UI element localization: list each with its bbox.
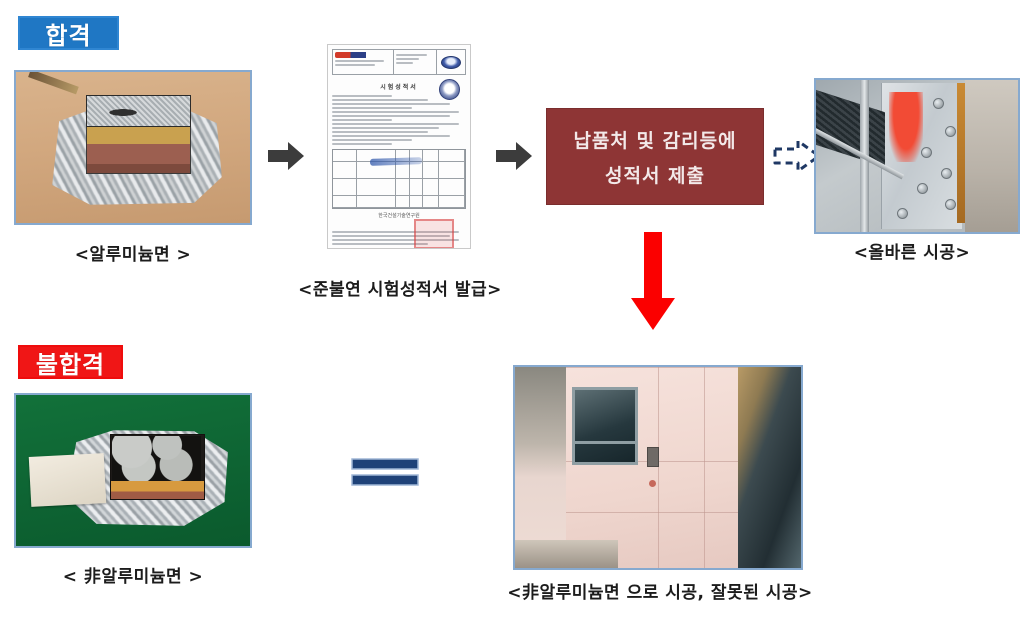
photo-correct-installation bbox=[814, 78, 1020, 234]
caption-non-aluminum-specimen: < 非알루미늄면 > bbox=[10, 562, 256, 587]
photo-correct-installation-image bbox=[816, 80, 1018, 232]
kict-logo-icon bbox=[335, 52, 391, 58]
red-marking bbox=[889, 92, 923, 162]
submit-report-line-2: 성적서 제출 bbox=[605, 161, 705, 188]
test-certificate-document: 시험성적서 한국건설기술연구원 bbox=[327, 44, 471, 249]
certificate-body-lines bbox=[332, 95, 466, 145]
window-opening bbox=[572, 387, 638, 465]
certificate-oval-seal bbox=[437, 50, 465, 74]
scaffold-deck bbox=[816, 90, 885, 167]
right-arrow-icon bbox=[266, 139, 306, 173]
wall-marking-dot bbox=[649, 480, 656, 487]
caption-correct-installation: <올바른 시공> bbox=[800, 238, 1024, 263]
submit-report-line-1: 납품처 및 감리등에 bbox=[573, 126, 736, 153]
panel-edge-trim bbox=[957, 83, 965, 223]
wall-outlet-box bbox=[647, 447, 659, 467]
photo-aluminum-specimen bbox=[14, 70, 252, 225]
side-wall bbox=[515, 367, 569, 568]
caption-aluminum-specimen: <알루미늄면 > bbox=[14, 240, 252, 265]
certificate-red-stamp bbox=[414, 219, 454, 249]
certificate-issuer-name: 한국건설기술연구원 bbox=[332, 212, 466, 219]
fail-badge: 불합격 bbox=[18, 345, 123, 379]
photo-wrong-installation bbox=[513, 365, 803, 570]
specimen-charred-surface bbox=[112, 436, 201, 481]
caption-test-certificate: <준불연 시험성적서 발급> bbox=[280, 275, 520, 300]
caption-wrong-installation: <非알루미늄면 으로 시공, 잘못된 시공> bbox=[460, 578, 860, 603]
concrete-slab bbox=[965, 80, 1018, 232]
non-aluminum-facing-sheet bbox=[29, 453, 106, 507]
construction-floor bbox=[515, 540, 618, 568]
photo-non-aluminum-specimen-image bbox=[16, 395, 250, 546]
certificate-header-table bbox=[332, 49, 466, 75]
down-arrow-icon bbox=[630, 232, 676, 332]
photo-wrong-installation-image bbox=[515, 367, 801, 568]
pass-badge: 합격 bbox=[18, 16, 119, 50]
certificate-number-cell bbox=[394, 50, 438, 74]
flowchart-canvas: 합격 <알루미늄면 > bbox=[0, 0, 1024, 638]
photo-aluminum-specimen-image bbox=[16, 72, 250, 223]
photo-non-aluminum-specimen bbox=[14, 393, 252, 548]
certificate-issuer-cell bbox=[333, 50, 394, 74]
submit-report-box: 납품처 및 감리등에 성적서 제출 bbox=[546, 108, 764, 205]
right-arrow-icon bbox=[494, 139, 534, 173]
equals-icon bbox=[350, 455, 420, 489]
door-frame-column bbox=[738, 367, 801, 568]
desk-pencil bbox=[28, 70, 79, 94]
certificate-round-seal bbox=[439, 79, 460, 100]
specimen-charred-top bbox=[86, 95, 191, 127]
